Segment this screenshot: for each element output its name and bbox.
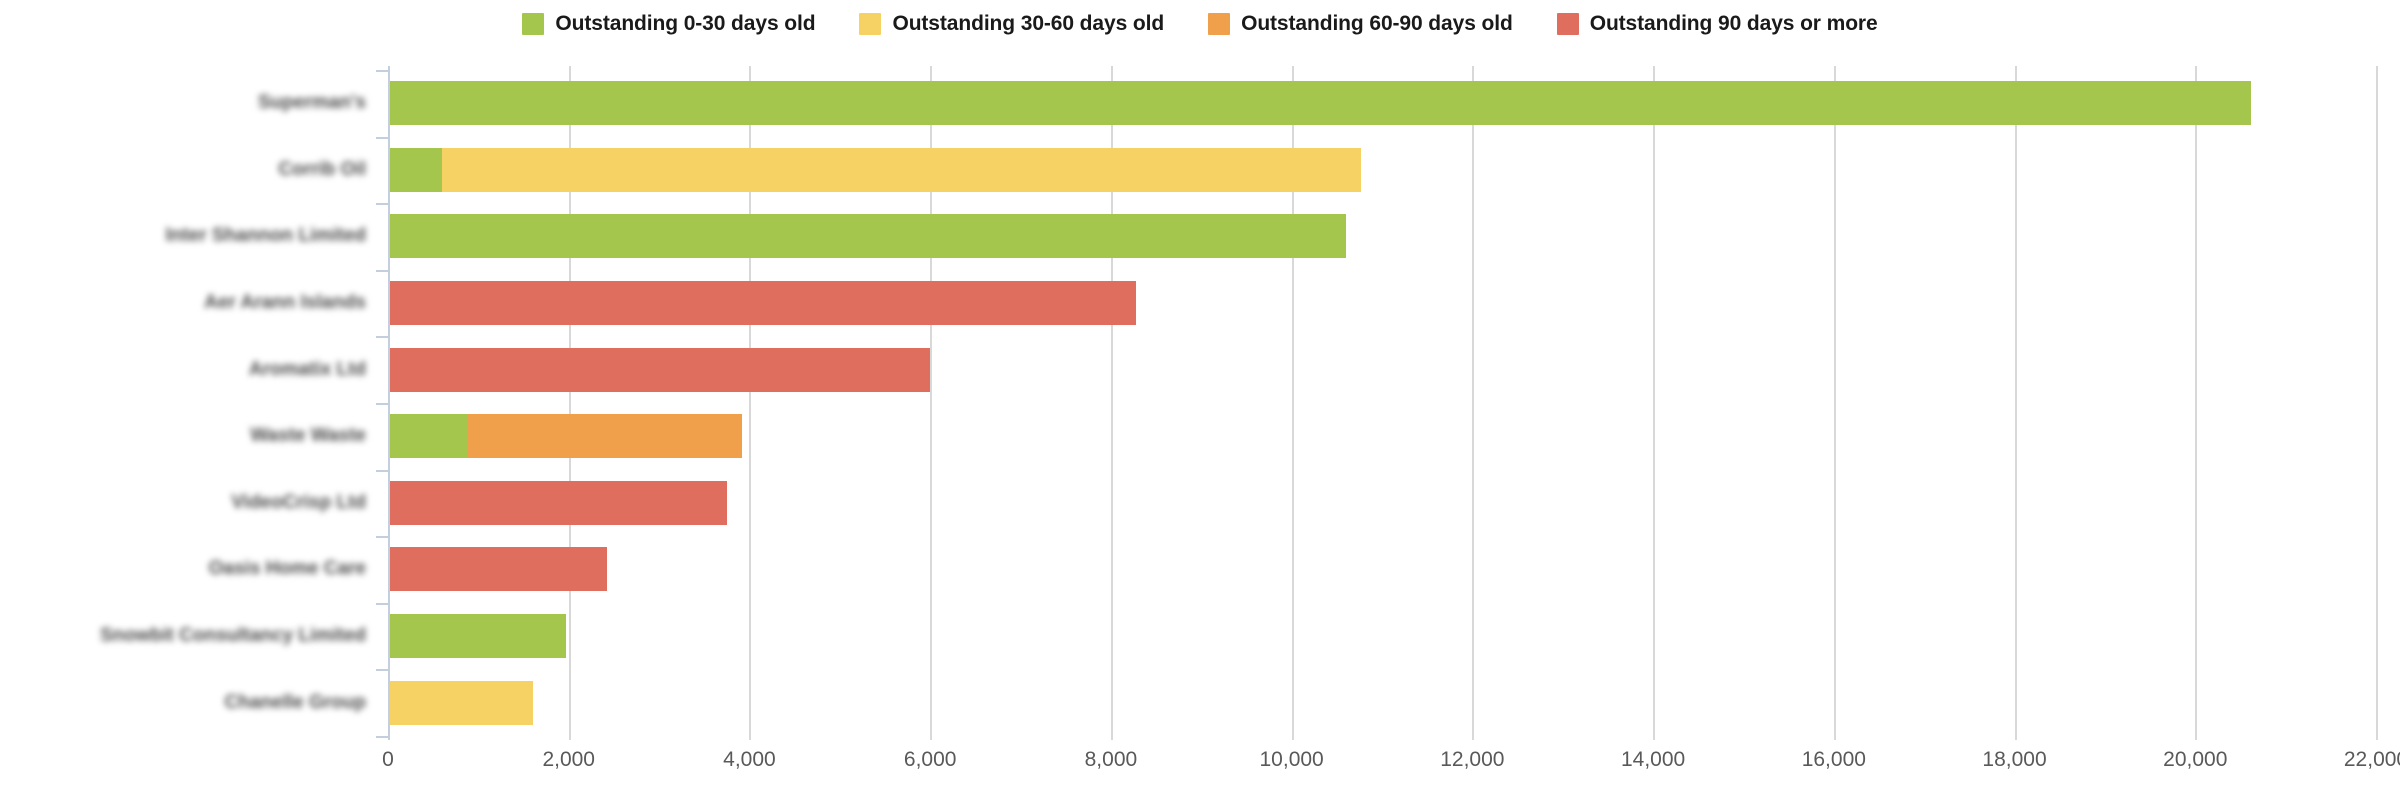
y-axis-category-9: Chanelle Group	[0, 669, 380, 736]
bar-track	[390, 414, 742, 458]
y-axis-category-label: VideoCrisp Ltd	[231, 492, 366, 514]
bar-row[interactable]	[390, 603, 2376, 670]
bar-track	[390, 281, 1136, 325]
bar-row[interactable]	[390, 270, 2376, 337]
y-axis-category-label: Chanelle Group	[225, 692, 366, 714]
bar-segment[interactable]	[390, 81, 2251, 125]
y-axis-category-label: Corrib Oil	[278, 159, 366, 181]
bar-segment[interactable]	[390, 481, 727, 525]
bar-row[interactable]	[390, 403, 2376, 470]
y-axis-category-1: Corrib Oil	[0, 137, 380, 204]
x-axis-tick-label: 6,000	[904, 748, 957, 772]
bar-row[interactable]	[390, 70, 2376, 137]
legend-item-label: Outstanding 90 days or more	[1590, 12, 1878, 36]
legend-item-d0_30[interactable]: Outstanding 0-30 days old	[522, 12, 815, 36]
x-axis-tick-label: 2,000	[542, 748, 595, 772]
x-axis-tick-label: 8,000	[1085, 748, 1138, 772]
bar-segment[interactable]	[390, 547, 607, 591]
x-axis-tick-label: 18,000	[1982, 748, 2046, 772]
x-axis-tick-label: 0	[382, 748, 394, 772]
legend-item-d60_90[interactable]: Outstanding 60-90 days old	[1208, 12, 1513, 36]
y-axis-category-label: Aromatix Ltd	[249, 359, 366, 381]
y-axis-category-8: Snowbit Consultancy Limited	[0, 603, 380, 670]
legend-swatch-icon	[522, 13, 544, 35]
bar-segment[interactable]	[390, 281, 1136, 325]
y-axis-category-6: VideoCrisp Ltd	[0, 470, 380, 537]
x-axis-tick-label: 22,000	[2344, 748, 2400, 772]
bar-row[interactable]	[390, 470, 2376, 537]
x-axis-tick-label: 14,000	[1621, 748, 1685, 772]
bar-segment[interactable]	[468, 414, 742, 458]
bar-segment[interactable]	[390, 348, 930, 392]
y-axis-category-0: Superman's	[0, 70, 380, 137]
y-axis-category-3: Aer Arann Islands	[0, 270, 380, 337]
y-axis-category-2: Inter Shannon Limited	[0, 203, 380, 270]
y-axis-category-label: Waste Waste	[250, 425, 366, 447]
legend-item-d90_plus[interactable]: Outstanding 90 days or more	[1557, 12, 1878, 36]
x-axis-tick-labels: 02,0004,0006,0008,00010,00012,00014,0001…	[0, 748, 2400, 788]
y-axis-category-label: Snowbit Consultancy Limited	[100, 625, 366, 647]
bar-track	[390, 614, 566, 658]
chart-legend: Outstanding 0-30 days oldOutstanding 30-…	[0, 0, 2400, 48]
y-axis-category-label: Inter Shannon Limited	[165, 225, 366, 247]
bar-segment[interactable]	[390, 681, 533, 725]
legend-item-d30_60[interactable]: Outstanding 30-60 days old	[859, 12, 1164, 36]
bar-segment[interactable]	[390, 614, 566, 658]
legend-swatch-icon	[1208, 13, 1230, 35]
y-axis-category-label: Oasis Home Care	[209, 558, 366, 580]
plot-area: Superman'sCorrib OilInter Shannon Limite…	[0, 48, 2400, 800]
y-axis-category-label: Aer Arann Islands	[204, 292, 366, 314]
x-axis-tick-label: 12,000	[1440, 748, 1504, 772]
x-axis-tick-label: 20,000	[2163, 748, 2227, 772]
bar-series-container	[390, 70, 2376, 736]
bar-segment[interactable]	[390, 414, 468, 458]
bar-segment[interactable]	[390, 214, 1346, 258]
legend-swatch-icon	[1557, 13, 1579, 35]
bar-row[interactable]	[390, 203, 2376, 270]
bar-track	[390, 81, 2251, 125]
legend-item-label: Outstanding 30-60 days old	[892, 12, 1164, 36]
y-axis-category-4: Aromatix Ltd	[0, 336, 380, 403]
bar-row[interactable]	[390, 669, 2376, 736]
bar-track	[390, 681, 533, 725]
gridline	[2376, 66, 2378, 740]
y-axis-category-labels: Superman'sCorrib OilInter Shannon Limite…	[0, 70, 380, 736]
bar-row[interactable]	[390, 336, 2376, 403]
y-axis-category-label: Superman's	[258, 92, 366, 114]
aged-debtors-stacked-bar-chart: Outstanding 0-30 days oldOutstanding 30-…	[0, 0, 2400, 800]
x-axis-tick-label: 4,000	[723, 748, 776, 772]
legend-item-label: Outstanding 0-30 days old	[555, 12, 815, 36]
bar-track	[390, 547, 607, 591]
bar-track	[390, 348, 930, 392]
bar-row[interactable]	[390, 137, 2376, 204]
y-axis-tick	[376, 736, 388, 738]
y-axis-category-7: Oasis Home Care	[0, 536, 380, 603]
y-axis-category-5: Waste Waste	[0, 403, 380, 470]
bar-track	[390, 214, 1346, 258]
bar-track	[390, 148, 1361, 192]
bar-track	[390, 481, 727, 525]
x-axis-tick-label: 10,000	[1260, 748, 1324, 772]
x-axis-tick-label: 16,000	[1802, 748, 1866, 772]
bar-segment[interactable]	[442, 148, 1361, 192]
bar-row[interactable]	[390, 536, 2376, 603]
legend-swatch-icon	[859, 13, 881, 35]
bar-segment[interactable]	[390, 148, 442, 192]
legend-item-label: Outstanding 60-90 days old	[1241, 12, 1513, 36]
